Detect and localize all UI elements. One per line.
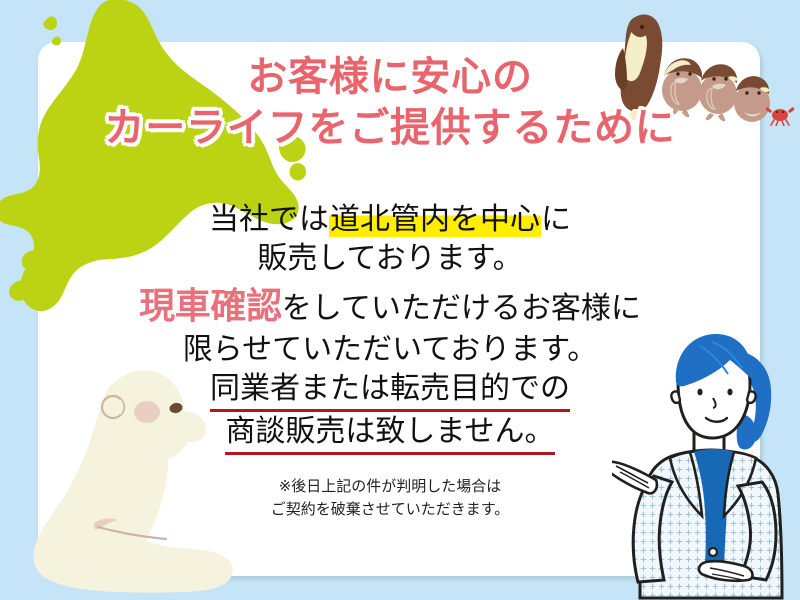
body-line-1-prefix: 当社では	[209, 202, 329, 237]
body-line-1: 当社では道北管内を中心に	[120, 200, 660, 239]
body-line-1-highlight: 道北管内を中心	[329, 202, 541, 237]
headline-line-1: お客様に安心の	[60, 52, 720, 103]
poster-headline: お客様に安心の カーライフをご提供するために	[60, 52, 720, 154]
note-line-2: ご契約を破棄させていただきます。	[120, 498, 660, 521]
poster-canvas: お客様に安心の カーライフをご提供するために 当社では道北管内を中心に 販売して…	[0, 0, 800, 600]
poster-body-copy: 当社では道北管内を中心に 販売しております。 現車確認をしていただけるお客様に …	[120, 200, 660, 520]
body-line-3-accent: 現車確認	[139, 286, 282, 327]
body-line-6-underlined: 商談販売は致しません。	[225, 412, 554, 455]
body-line-3: 現車確認をしていただけるお客様に	[120, 284, 660, 330]
body-line-4: 限らせていただいております。	[120, 330, 660, 369]
body-line-3-rest: をしていただけるお客様に	[282, 291, 641, 326]
body-line-1-suffix: に	[541, 202, 571, 237]
poster-note: ※後日上記の件が判明した場合は ご契約を破棄させていただきます。	[120, 475, 660, 520]
body-line-6: 商談販売は致しません。	[120, 412, 660, 455]
body-line-5: 同業者または転売目的での	[120, 369, 660, 412]
body-line-2: 販売しております。	[120, 239, 660, 278]
headline-line-2: カーライフをご提供するために	[60, 103, 720, 154]
note-line-1: ※後日上記の件が判明した場合は	[120, 475, 660, 498]
body-line-5-underlined: 同業者または転売目的での	[210, 369, 570, 412]
red-crab-illustration	[765, 100, 795, 126]
